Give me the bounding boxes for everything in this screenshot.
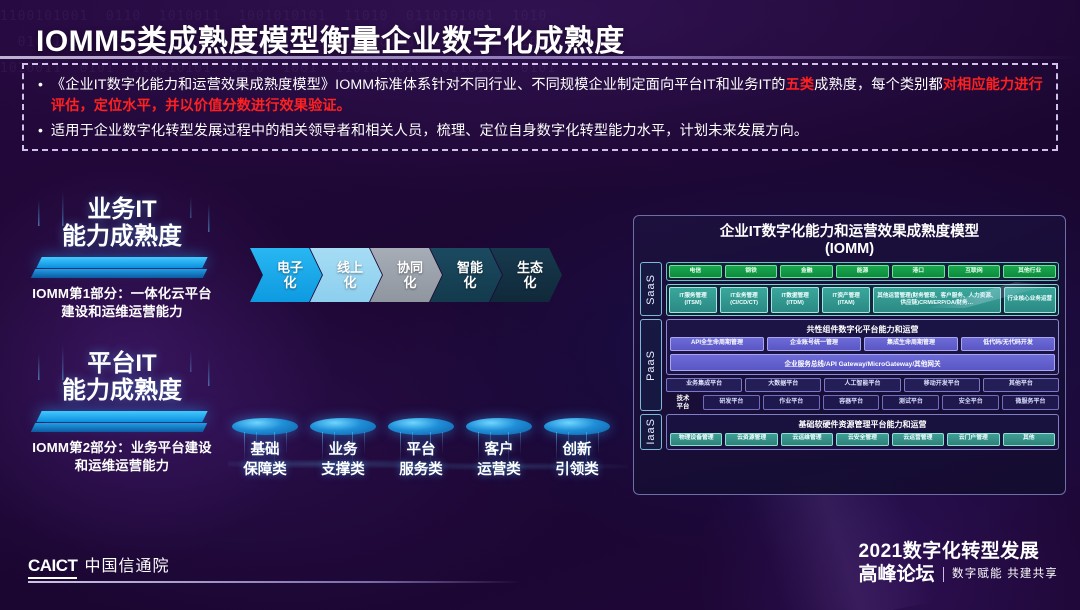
category-item-3[interactable]: 平台 服务类 [388,418,454,480]
saas-function-cell[interactable]: IT数据管理(ITDM) [771,287,819,313]
tier-paas: PaaS 共性组件数字化平台能力和运营 API全生命周期管理企业账号统一管理集成… [640,319,1059,411]
tier-label-paas-text: PaaS [645,350,657,381]
category-label-line2: 保障类 [232,460,298,480]
paas-common-cell[interactable]: API全生命周期管理 [670,337,764,351]
panel-title: 企业IT数字化能力和运营效果成熟度模型 (IOMM) [640,221,1059,262]
maturity-title-line2: 能力成熟度 [2,223,242,250]
tier-saas: SaaS 电信钢铁金融能源港口互联网其他行业 IT服务管理(ITSM)IT业务管… [640,262,1059,316]
paas-platform-cell[interactable]: 业务集成平台 [666,378,742,392]
category-label-line2: 引领类 [544,460,610,480]
iaas-box: 基础软硬件资源管理平台能力和运营 物理设备管理云资源管理云运维管理云安全管理云运… [666,414,1059,450]
saas-industry-cell[interactable]: 港口 [892,265,945,278]
paas-common-row: API全生命周期管理企业账号统一管理集成生命周期管理低代码/无代码开发 [670,337,1055,351]
category-label-line1: 创新 [544,440,610,460]
paas-platform-cell[interactable]: 其他平台 [983,378,1059,392]
tier-label-saas: SaaS [640,262,662,316]
saas-industry-box: 电信钢铁金融能源港口互联网其他行业 [666,262,1059,281]
tech-platform-cell[interactable]: 安全平台 [942,395,999,410]
caict-logo: CAICT 中国信通院 [28,552,169,579]
panel-title-line2: (IOMM) [640,241,1059,258]
disc-icon [388,418,454,435]
maturity-block-platform-it: 平台IT 能力成熟度 IOMM第2部分：业务平台建设 和运维运营能力 [2,350,242,475]
maturity-title: 业务IT 能力成熟度 [2,196,242,250]
bullet-marker: • [34,75,43,94]
category-item-4[interactable]: 客户 运营类 [466,418,532,480]
tech-platform-cell[interactable]: 作业平台 [763,395,820,410]
summary-callout: • 《企业IT数字化能力和运营效果成熟度模型》IOMM标准体系针对不同行业、不同… [22,63,1058,151]
chevron-label-line2: 化 [283,275,296,290]
saas-function-cell[interactable]: IT服务管理(ITSM) [669,287,717,313]
iaas-cell[interactable]: 云资源管理 [725,433,777,446]
caict-name-cn: 中国信通院 [84,552,169,576]
maturity-title-line1: 平台IT [2,350,242,377]
tech-platform-cell[interactable]: 测试平台 [882,395,939,410]
tier-label-iaas: IaaS [640,414,662,450]
chevron-label-line1: 协同 [397,260,423,275]
saas-industry-cell[interactable]: 其他行业 [1003,265,1056,278]
chevron-label-line1: 电子 [277,260,303,275]
chevron-label-line2: 化 [403,275,416,290]
maturity-subtitle-line1: IOMM第1部分：一体化云平台 [2,285,242,303]
category-label-line2: 服务类 [388,460,454,480]
maturity-block-business-it: 业务IT 能力成熟度 IOMM第1部分：一体化云平台 建设和运维运营能力 [2,196,242,321]
bullet-text-1: 《企业IT数字化能力和运营效果成熟度模型》IOMM标准体系针对不同行业、不同规模… [51,75,1044,116]
iaas-cell[interactable]: 云安全管理 [836,433,888,446]
footer-divider [28,581,520,583]
plain-text: 成熟度，每个类别都 [814,77,943,93]
iaas-cell[interactable]: 云运营管理 [892,433,944,446]
tech-platform-cell[interactable]: 微服务平台 [1002,395,1059,410]
plain-text: 适用于企业数字化转型发展过程中的相关领导者和相关人员，梳理、定位自身数字化转型能… [51,123,808,139]
highlighted-text: 五类 [786,77,815,93]
saas-function-cell[interactable]: IT业务管理(CI/CD/CT) [720,287,768,313]
plain-text: 《企业IT数字化能力和运营效果成熟度模型》IOMM标准体系针对不同行业、不同规模… [51,77,786,93]
iaas-header: 基础软硬件资源管理平台能力和运营 [670,417,1055,433]
forum-tagline: 数字赋能 共建共享 [952,563,1058,586]
category-label-line1: 业务 [310,440,376,460]
disc-icon [466,418,532,435]
chevron-label-line2: 化 [343,275,356,290]
tech-label-line2: 平台 [677,403,690,411]
tech-platform-label: 技术 平台 [666,395,700,411]
paas-common-cell[interactable]: 企业账号统一管理 [767,337,861,351]
paas-common-cell[interactable]: 集成生命周期管理 [864,337,958,351]
bullet-item: • 适用于企业数字化转型发展过程中的相关领导者和相关人员，梳理、定位自身数字化转… [34,121,1044,142]
bullet-text-2: 适用于企业数字化转型发展过程中的相关领导者和相关人员，梳理、定位自身数字化转型能… [51,121,808,142]
tech-platform-cell[interactable]: 研发平台 [703,395,760,410]
stage-chevron-1[interactable]: 电子化 [250,248,322,302]
disc-icon [232,418,298,435]
tier-label-iaas-text: IaaS [645,418,657,445]
category-label-line1: 平台 [388,440,454,460]
paas-platform-row: 业务集成平台大数据平台人工智能平台移动开发平台其他平台 [666,378,1059,392]
disc-icon [310,418,376,435]
saas-function-row: IT服务管理(ITSM)IT业务管理(CI/CD/CT)IT数据管理(ITDM)… [669,287,1056,313]
iomm-model-panel: 企业IT数字化能力和运营效果成熟度模型 (IOMM) SaaS 电信钢铁金融能源… [633,215,1066,495]
tier-iaas: IaaS 基础软硬件资源管理平台能力和运营 物理设备管理云资源管理云运维管理云安… [640,414,1059,450]
paas-platform-cell[interactable]: 移动开发平台 [904,378,980,392]
paas-common-cell[interactable]: 低代码/无代码开发 [961,337,1055,351]
chevron-label-line1: 线上 [337,260,363,275]
saas-industry-cell[interactable]: 电信 [669,265,722,278]
maturity-subtitle-line2: 建设和运维运营能力 [2,303,242,321]
tech-platform-cell[interactable]: 容器平台 [823,395,880,410]
bullet-marker: • [34,121,43,140]
stage-chevron-row: 电子化 线上化 协同化 智能化 生态化 [250,248,550,302]
iaas-cell[interactable]: 物理设备管理 [670,433,722,446]
paas-common-box: 共性组件数字化平台能力和运营 API全生命周期管理企业账号统一管理集成生命周期管… [666,319,1059,375]
saas-industry-cell[interactable]: 钢铁 [725,265,778,278]
saas-function-cell[interactable]: IT资产管理(ITAM) [822,287,870,313]
category-label-line1: 客户 [466,440,532,460]
paas-bus-row: 企业服务总线/API Gateway/MicroGateway/其他网关 [670,354,1055,371]
saas-function-cell[interactable]: 行业核心业务运营 [1004,287,1056,313]
category-item-1[interactable]: 基础 保障类 [232,418,298,480]
category-row: 基础 保障类 业务 支撑类 平台 服务类 客户 运营类 创新 引领类 [232,418,610,480]
chevron-label-line2: 化 [463,275,476,290]
maturity-title-line1: 业务IT [2,196,242,223]
saas-industry-cell[interactable]: 互联网 [948,265,1001,278]
category-label-line1: 基础 [232,440,298,460]
iaas-cell-row: 物理设备管理云资源管理云运维管理云安全管理云运营管理云门户管理其他 [670,433,1055,446]
paas-platform-cell[interactable]: 人工智能平台 [824,378,900,392]
tech-platform-cells: 研发平台作业平台容器平台测试平台安全平台微服务平台 [703,395,1059,411]
maturity-subtitle-line1: IOMM第2部分：业务平台建设 [2,439,242,457]
paas-common-header: 共性组件数字化平台能力和运营 [670,322,1055,337]
iaas-cell[interactable]: 云运维管理 [781,433,833,446]
chevron-label-line1: 智能 [457,260,483,275]
maturity-subtitle-line2: 和运维运营能力 [2,457,242,475]
saas-function-box: IT服务管理(ITSM)IT业务管理(CI/CD/CT)IT数据管理(ITDM)… [666,284,1059,316]
bullet-item: • 《企业IT数字化能力和运营效果成熟度模型》IOMM标准体系针对不同行业、不同… [34,75,1044,116]
paas-platform-cell[interactable]: 大数据平台 [745,378,821,392]
tier-label-saas-text: SaaS [645,274,657,305]
paas-tech-row: 技术 平台 研发平台作业平台容器平台测试平台安全平台微服务平台 [666,395,1059,411]
forum-divider [943,567,945,582]
iaas-cell[interactable]: 其他 [1003,433,1055,446]
maturity-title-line2: 能力成熟度 [2,377,242,404]
tier-label-paas: PaaS [640,319,662,411]
platform-slab-icon [33,257,211,279]
category-label-line2: 支撑类 [310,460,376,480]
forum-line2-title: 高峰论坛 [858,563,934,586]
saas-industry-cell[interactable]: 金融 [780,265,833,278]
header-divider [0,56,1080,59]
platform-slab-icon [33,411,211,433]
category-item-5[interactable]: 创新 引领类 [544,418,610,480]
page-title: IOMM5类成熟度模型衡量企业数字化成熟度 [36,16,625,60]
tech-label-line1: 技术 [677,395,690,403]
saas-function-cell[interactable]: 其他运营管理(财务管理、客户服务、人力资源、供应链)CRM/ERP/OA/财务… [873,287,1000,313]
forum-logo: 2021数字化转型发展 高峰论坛 数字赋能 共建共享 [858,540,1058,586]
saas-industry-cell[interactable]: 能源 [836,265,889,278]
iaas-cell[interactable]: 云门户管理 [947,433,999,446]
panel-title-line1: 企业IT数字化能力和运营效果成熟度模型 [640,224,1059,241]
forum-line1: 2021数字化转型发展 [858,540,1058,563]
maturity-title: 平台IT 能力成熟度 [2,350,242,404]
chevron-label-line2: 化 [523,275,536,290]
caict-mark: CAICT [28,556,77,579]
category-label-line2: 运营类 [466,460,532,480]
disc-icon [544,418,610,435]
saas-industry-row: 电信钢铁金融能源港口互联网其他行业 [669,265,1056,278]
chevron-label-line1: 生态 [517,260,543,275]
category-item-2[interactable]: 业务 支撑类 [310,418,376,480]
